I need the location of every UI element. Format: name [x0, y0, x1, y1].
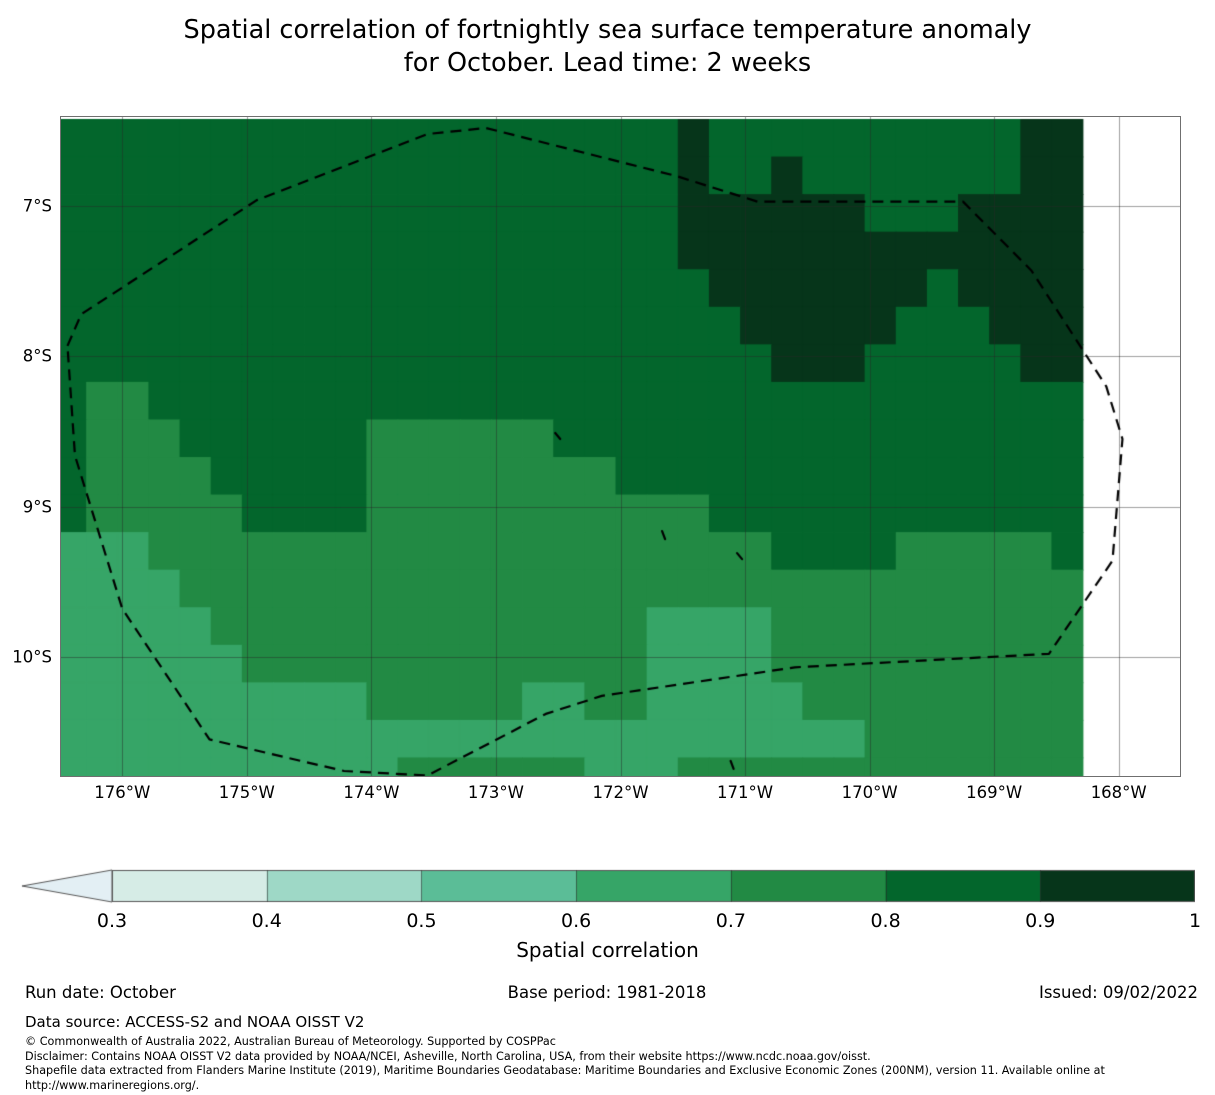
page-title: Spatial correlation of fortnightly sea s…	[0, 14, 1215, 80]
colorbar-tick-label: 0.8	[870, 910, 900, 932]
colorbar-tick-label: 0.3	[97, 910, 127, 932]
copyright-line: © Commonwealth of Australia 2022, Austra…	[25, 1035, 1205, 1050]
correlation-heatmap-canvas	[60, 116, 1181, 777]
x-tick-label: 168°W	[1091, 783, 1147, 802]
base-period: Base period: 1981-2018	[508, 983, 707, 1002]
fineprint-block: © Commonwealth of Australia 2022, Austra…	[25, 1035, 1205, 1093]
colorbar: 0.30.40.50.60.70.80.91 Spatial correlati…	[0, 862, 1215, 962]
metadata-row: Run date: October Base period: 1981-2018…	[0, 983, 1215, 1005]
colorbar-gradient	[20, 862, 1195, 910]
map-plot-area	[60, 116, 1181, 777]
y-tick-label: 7°S	[23, 197, 52, 216]
x-tick-label: 174°W	[343, 783, 399, 802]
colorbar-label: Spatial correlation	[0, 938, 1215, 962]
x-tick-label: 170°W	[842, 783, 898, 802]
x-tick-label: 169°W	[966, 783, 1022, 802]
x-tick-label: 173°W	[468, 783, 524, 802]
colorbar-tick-label: 1	[1189, 910, 1201, 932]
x-tick-label: 172°W	[592, 783, 648, 802]
disclaimer-line: Disclaimer: Contains NOAA OISST V2 data …	[25, 1050, 1205, 1065]
y-tick-label: 9°S	[23, 497, 52, 516]
colorbar-tick-label: 0.5	[406, 910, 436, 932]
colorbar-tick-label: 0.6	[561, 910, 591, 932]
x-tick-label: 176°W	[94, 783, 150, 802]
shapefile-line-2: http://www.marineregions.org/.	[25, 1079, 1205, 1094]
x-tick-label: 171°W	[717, 783, 773, 802]
colorbar-tick-label: 0.9	[1025, 910, 1055, 932]
data-source-line: Data source: ACCESS-S2 and NOAA OISST V2	[25, 1013, 364, 1031]
shapefile-line-1: Shapefile data extracted from Flanders M…	[25, 1064, 1205, 1079]
y-tick-label: 10°S	[12, 647, 52, 666]
colorbar-tick-label: 0.7	[716, 910, 746, 932]
title-line-1: Spatial correlation of fortnightly sea s…	[0, 14, 1215, 47]
title-line-2: for October. Lead time: 2 weeks	[0, 47, 1215, 80]
x-tick-label: 175°W	[219, 783, 275, 802]
run-date: Run date: October	[25, 983, 176, 1002]
issued-date: Issued: 09/02/2022	[1039, 983, 1198, 1002]
colorbar-tick-label: 0.4	[252, 910, 282, 932]
y-tick-label: 8°S	[23, 347, 52, 366]
